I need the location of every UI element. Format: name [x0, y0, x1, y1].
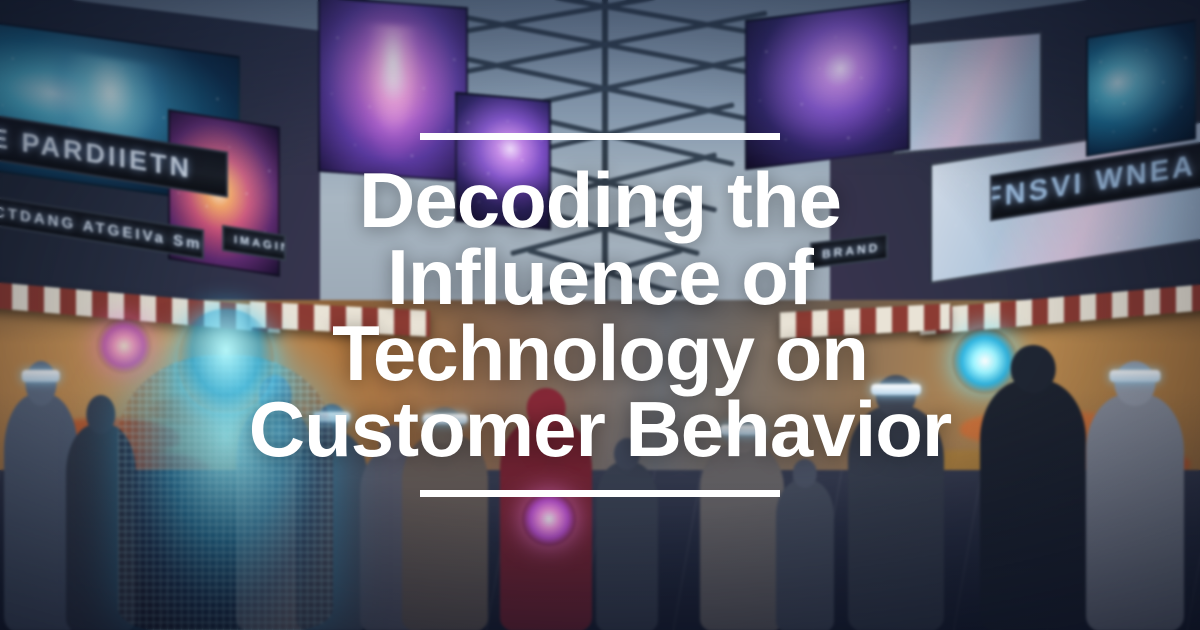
article-hero-banner: E PARDIIETN CTDANG ATGEIVa Smitres IMAGI…: [0, 0, 1200, 630]
title-line-2: Influence of: [70, 239, 1130, 315]
title-line-3: Technology on: [70, 315, 1130, 391]
divider-rule-top: [420, 133, 780, 140]
title-line-1: Decoding the: [70, 162, 1130, 238]
page-title: Decoding the Influence of Technology on …: [70, 162, 1130, 468]
title-line-4: Customer Behavior: [70, 391, 1130, 467]
divider-rule-bottom: [420, 490, 780, 497]
title-overlay: Decoding the Influence of Technology on …: [0, 0, 1200, 630]
